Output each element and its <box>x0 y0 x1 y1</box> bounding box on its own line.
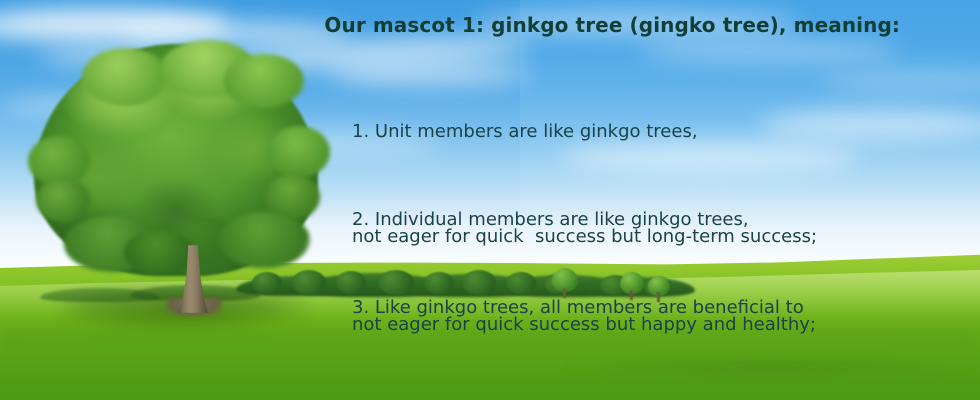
banner-title: Our mascot 1: ginkgo tree (gingko tree),… <box>0 13 900 37</box>
paragraph-point-3: 3. Like ginkgo trees, all members are be… <box>352 220 804 400</box>
text-overlay: Our mascot 1: ginkgo tree (gingko tree),… <box>0 0 980 300</box>
landscape-text-banner: Our mascot 1: ginkgo tree (gingko tree),… <box>0 0 980 400</box>
paragraph-line: 3. Like ginkgo trees, all members are be… <box>352 290 804 325</box>
paragraph-line: the living environment of human beings. <box>352 395 804 400</box>
